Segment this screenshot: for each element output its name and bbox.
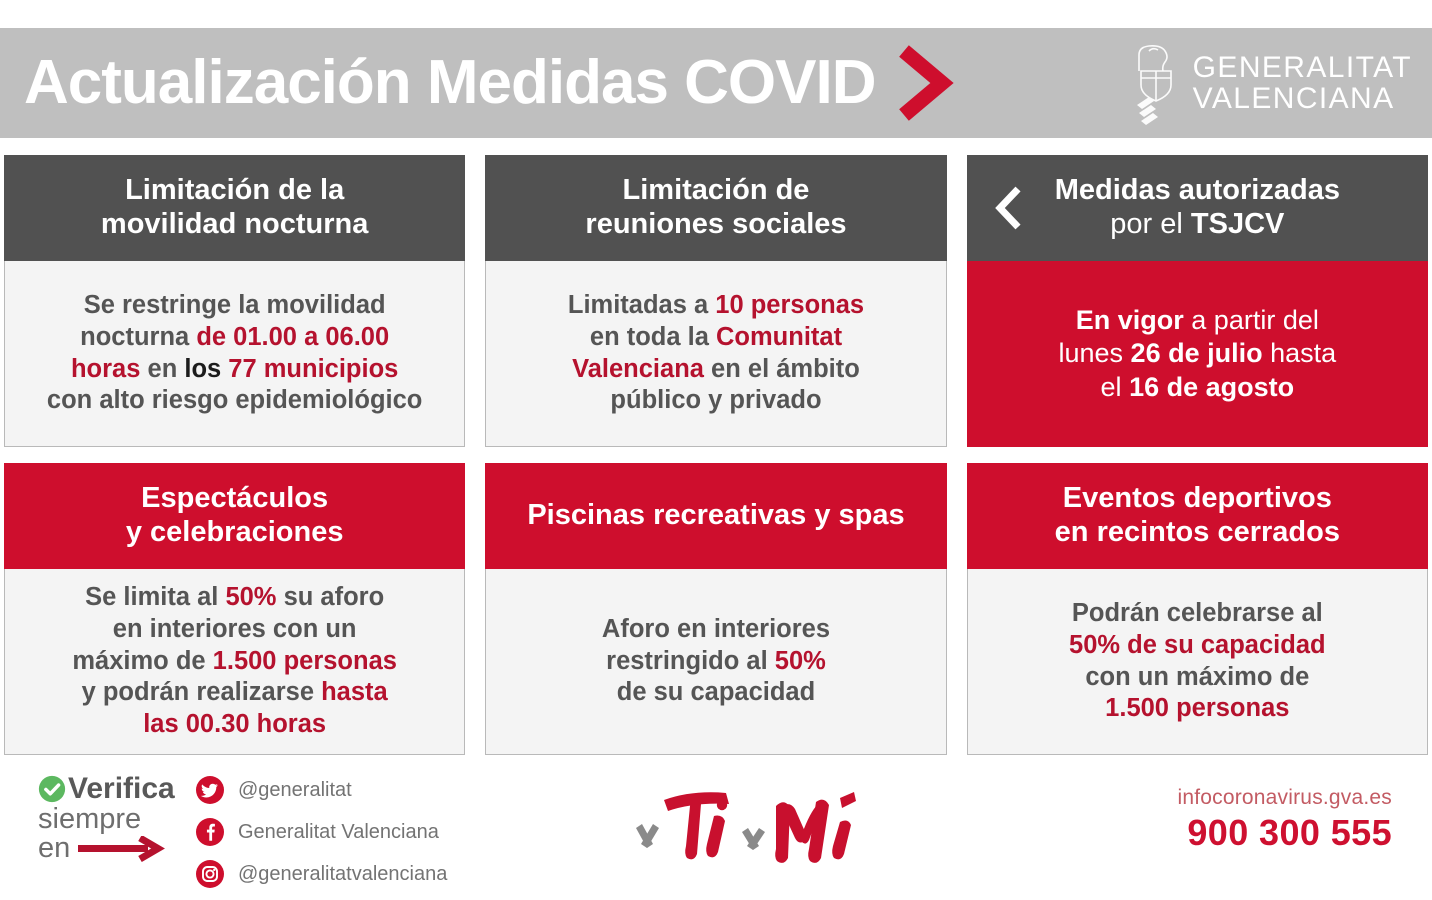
card-header-piscinas-spas: Piscinas recreativas y spas (485, 463, 946, 569)
social-label-instagram[interactable]: @generalitatvalenciana (238, 863, 447, 886)
card-espectaculos: Espectáculos y celebraciones Se limita a… (4, 463, 465, 755)
card-title-line1: Piscinas recreativas y spas (527, 499, 904, 533)
card-title-line2: y celebraciones (126, 516, 344, 548)
card-title-line1: Limitación de (623, 174, 810, 206)
card-medidas-tsjcv: Medidas autorizadas por el TSJCV En vigo… (967, 155, 1428, 447)
text-fragment: Aforo en interiores (602, 615, 830, 643)
highlight-fragment: 1.500 personas (1105, 694, 1289, 722)
card-body-reuniones-sociales: Limitadas a 10 personas en toda la Comun… (485, 261, 946, 447)
text-fragment: hasta (1263, 338, 1337, 368)
social-row-facebook[interactable]: Generalitat Valenciana (196, 818, 447, 846)
card-header-medidas-tsjcv: Medidas autorizadas por el TSJCV (967, 155, 1428, 261)
social-label-twitter[interactable]: @generalitat (238, 779, 352, 802)
text-fragment: su aforo (276, 583, 384, 611)
emphasis-fragment: 16 de agosto (1129, 372, 1294, 402)
text-fragment: lunes (1058, 338, 1130, 368)
text-fragment: Podrán celebrarse al (1072, 599, 1323, 627)
brand-text: GENERALITAT VALENCIANA (1193, 52, 1412, 115)
card-reuniones-sociales: Limitación de reuniones sociales Limitad… (485, 155, 946, 447)
card-title-line1: Limitación de la (125, 174, 344, 206)
verify-label-line2: siempre (38, 805, 175, 835)
chevron-left-icon (991, 184, 1027, 232)
highlight-fragment: Valenciana (572, 355, 704, 383)
verify-label-line3: en (38, 834, 70, 864)
card-body-eventos-deportivos: Podrán celebrarse al 50% de su capacidad… (967, 569, 1428, 755)
contact-phone[interactable]: 900 300 555 (1177, 812, 1392, 854)
highlight-fragment: las 00.30 horas (143, 710, 326, 738)
infographic-page: Actualización Medidas COVID (0, 0, 1432, 900)
text-fragment: en el ámbito (704, 355, 860, 383)
highlight-fragment: de 01.00 a 06.00 (196, 323, 389, 351)
card-title-line2: en recintos cerrados (1055, 516, 1340, 548)
emphasis-fragment: En vigor (1076, 305, 1184, 335)
contact-block: infocoronavirus.gva.es 900 300 555 (1177, 786, 1392, 854)
verified-check-icon (38, 775, 66, 803)
highlight-fragment: 10 personas (715, 291, 864, 319)
generalitat-valenciana-logo: GENERALITAT VALENCIANA (1131, 41, 1412, 125)
text-fragment: Se limita al (85, 583, 225, 611)
coat-of-arms-icon (1131, 41, 1179, 125)
measures-grid: Limitación de la movilidad nocturna Se r… (4, 155, 1428, 755)
card-title-line1: Medidas autorizadas (1055, 174, 1340, 206)
emphasis-fragment: 26 de julio (1131, 338, 1263, 368)
brand-line-2: VALENCIANA (1193, 83, 1412, 115)
card-body-movilidad-nocturna: Se restringe la movilidad nocturna de 01… (4, 261, 465, 447)
card-title-line2-bold: TSJCV (1191, 208, 1284, 240)
text-fragment: a partir del (1184, 305, 1319, 335)
social-row-twitter[interactable]: @generalitat (196, 776, 447, 804)
card-title-line1: Espectáculos (141, 482, 328, 514)
page-title: Actualización Medidas COVID (24, 52, 876, 114)
text-fragment: en toda la (590, 323, 716, 351)
card-body-medidas-tsjcv: En vigor a partir del lunes 26 de julio … (967, 261, 1428, 447)
text-fragment: público y privado (610, 386, 821, 414)
verify-block: Verifica siempre en (38, 774, 175, 864)
card-movilidad-nocturna: Limitación de la movilidad nocturna Se r… (4, 155, 465, 447)
highlight-fragment: Comunitat (716, 323, 842, 351)
social-row-instagram[interactable]: @generalitatvalenciana (196, 860, 447, 888)
card-header-espectaculos: Espectáculos y celebraciones (4, 463, 465, 569)
card-header-movilidad-nocturna: Limitación de la movilidad nocturna (4, 155, 465, 261)
arrow-right-icon (78, 836, 170, 862)
text-fragment: Se restringe la movilidad (84, 291, 386, 319)
highlight-fragment: hasta (321, 678, 388, 706)
header-band: Actualización Medidas COVID (0, 28, 1432, 138)
card-body-espectaculos: Se limita al 50% su aforo en interiores … (4, 569, 465, 755)
card-header-eventos-deportivos: Eventos deportivos en recintos cerrados (967, 463, 1428, 569)
xtixmi-logo (630, 776, 860, 876)
card-eventos-deportivos: Eventos deportivos en recintos cerrados … (967, 463, 1428, 755)
text-fragment: en (140, 355, 184, 383)
twitter-icon[interactable] (196, 776, 224, 804)
emphasis-fragment: los (184, 355, 221, 383)
text-fragment: el (1101, 372, 1130, 402)
highlight-fragment: 50% (775, 647, 826, 675)
highlight-fragment: 77 municipios (228, 355, 398, 383)
verify-label: Verifica (68, 774, 175, 805)
card-piscinas-spas: Piscinas recreativas y spas Aforo en int… (485, 463, 946, 755)
card-title-line2-thin: por el (1110, 208, 1191, 240)
text-fragment: y podrán realizarse (82, 678, 322, 706)
instagram-icon[interactable] (196, 860, 224, 888)
text-fragment: de su capacidad (617, 678, 815, 706)
text-fragment: restringido al (606, 647, 775, 675)
highlight-fragment: 1.500 personas (213, 647, 397, 675)
card-body-piscinas-spas: Aforo en interiores restringido al 50% d… (485, 569, 946, 755)
social-label-facebook[interactable]: Generalitat Valenciana (238, 821, 439, 844)
card-title-line2: reuniones sociales (585, 208, 846, 240)
card-title-line2: movilidad nocturna (101, 208, 368, 240)
footer: Verifica siempre en @generalitat (0, 762, 1432, 900)
text-fragment: en interiores con un (113, 615, 357, 643)
text-fragment: Limitadas a (568, 291, 715, 319)
highlight-fragment: 50% de su capacidad (1069, 631, 1326, 659)
highlight-fragment: horas (71, 355, 140, 383)
facebook-icon[interactable] (196, 818, 224, 846)
text-fragment: con alto riesgo epidemiológico (47, 386, 422, 414)
social-links: @generalitat Generalitat Valenciana @gen… (196, 776, 447, 888)
highlight-fragment: 50% (225, 583, 276, 611)
brand-line-1: GENERALITAT (1193, 52, 1412, 84)
card-header-reuniones-sociales: Limitación de reuniones sociales (485, 155, 946, 261)
contact-url[interactable]: infocoronavirus.gva.es (1177, 786, 1392, 810)
chevron-right-icon (894, 45, 956, 121)
text-fragment: con un máximo de (1085, 663, 1309, 691)
text-fragment: máximo de (72, 647, 212, 675)
card-title-line1: Eventos deportivos (1063, 482, 1332, 514)
text-fragment: nocturna (80, 323, 196, 351)
